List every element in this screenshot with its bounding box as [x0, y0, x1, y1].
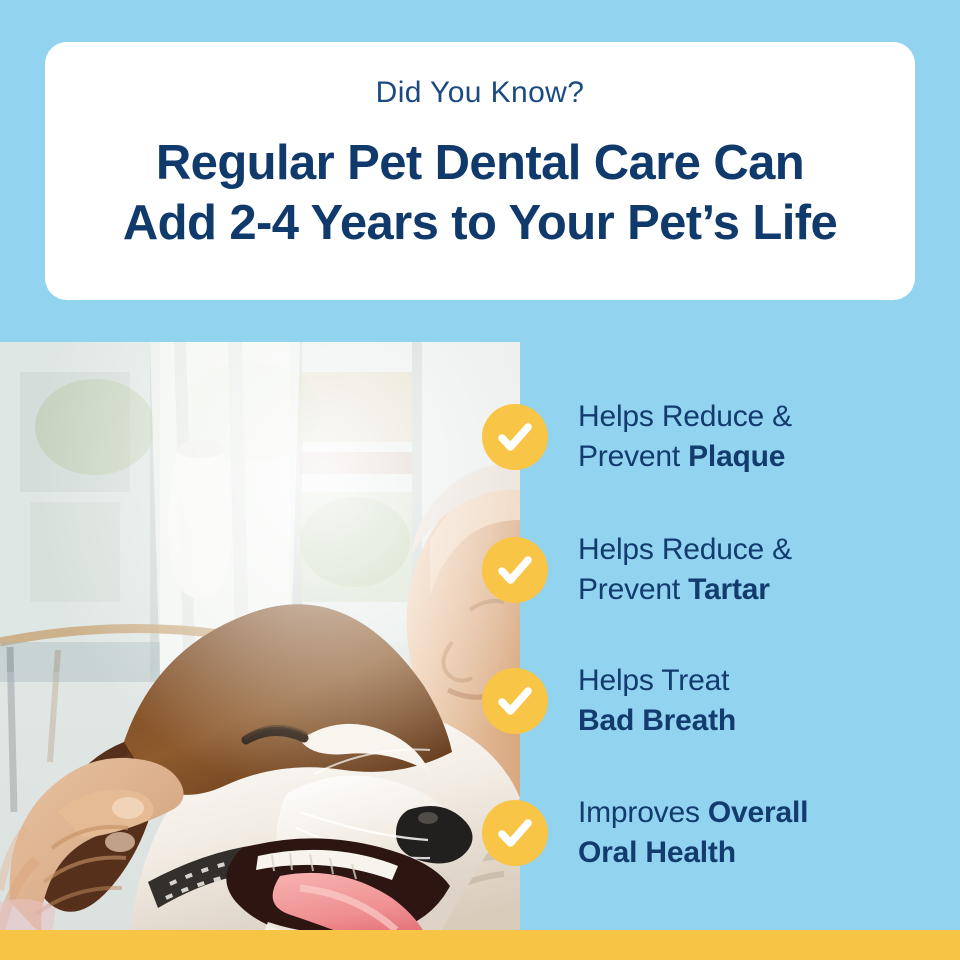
- benefit-line-2-bold: Bad Breath: [578, 704, 736, 737]
- headline-line-2: Add 2-4 Years to Your Pet’s Life: [45, 193, 915, 253]
- benefit-line-2-bold: Plaque: [688, 440, 785, 473]
- benefit-text: Improves Overall Oral Health: [578, 793, 808, 873]
- headline-line-1: Regular Pet Dental Care Can: [45, 133, 915, 193]
- check-icon: [482, 404, 548, 470]
- benefit-line-2-bold: Tartar: [688, 573, 770, 606]
- check-icon: [482, 537, 548, 603]
- list-item: Helps Treat Bad Breath: [482, 658, 960, 744]
- benefit-line-2: Prevent Tartar: [578, 570, 792, 610]
- benefit-line-1: Helps Treat: [578, 661, 736, 701]
- list-item: Improves Overall Oral Health: [482, 790, 960, 876]
- benefit-line-2: Oral Health: [578, 833, 808, 873]
- infographic-canvas: Did You Know? Regular Pet Dental Care Ca…: [0, 0, 960, 960]
- benefit-line-1-plain: Improves: [578, 796, 708, 829]
- benefit-line-2-plain: Prevent: [578, 440, 688, 473]
- benefit-text: Helps Treat Bad Breath: [578, 661, 736, 741]
- benefits-list: Helps Reduce & Prevent Plaque Helps Redu…: [482, 342, 960, 930]
- benefit-line-1-bold: Overall: [708, 796, 808, 829]
- header-card: Did You Know? Regular Pet Dental Care Ca…: [45, 42, 915, 300]
- benefit-line-2-plain: Prevent: [578, 573, 688, 606]
- eyebrow-text: Did You Know?: [376, 76, 585, 109]
- benefit-line-1: Improves Overall: [578, 793, 808, 833]
- list-item: Helps Reduce & Prevent Tartar: [482, 527, 960, 613]
- check-icon: [482, 800, 548, 866]
- benefit-line-2: Bad Breath: [578, 701, 736, 741]
- list-item: Helps Reduce & Prevent Plaque: [482, 394, 960, 480]
- bottom-accent-bar: [0, 930, 960, 960]
- dog-photo: [0, 342, 520, 932]
- benefit-line-1: Helps Reduce &: [578, 530, 792, 570]
- benefit-line-1: Helps Reduce &: [578, 397, 792, 437]
- benefit-line-2-bold: Oral Health: [578, 836, 736, 869]
- page-title: Regular Pet Dental Care Can Add 2-4 Year…: [45, 133, 915, 253]
- check-icon: [482, 668, 548, 734]
- benefit-text: Helps Reduce & Prevent Tartar: [578, 530, 792, 610]
- benefit-text: Helps Reduce & Prevent Plaque: [578, 397, 792, 477]
- benefit-line-2: Prevent Plaque: [578, 437, 792, 477]
